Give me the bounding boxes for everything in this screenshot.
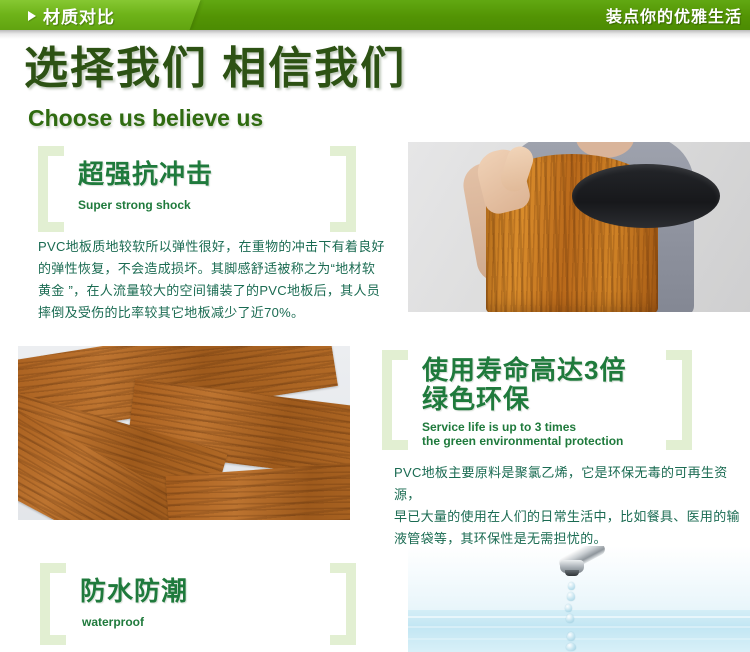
photo3-ripple	[408, 626, 750, 628]
feature-image-2	[18, 346, 350, 520]
photo1-plank-backing	[572, 164, 720, 228]
photo3-faucet-tip	[565, 570, 579, 576]
feature-image-1	[408, 142, 750, 312]
feature-title-cn-3: 防水防潮	[80, 577, 188, 606]
photo3-water-drop	[568, 582, 575, 590]
photo3-water-drop	[565, 604, 572, 612]
section-tab-content: 材质对比	[0, 0, 200, 30]
photo3-water-drop	[567, 632, 575, 641]
feature-title-en-1: Super strong shock	[78, 198, 191, 212]
feature-block-3: 防水防潮 waterproof	[40, 563, 358, 645]
feature-block-2: 使用寿命高达3倍 绿色环保 Service life is up to 3 ti…	[382, 350, 692, 450]
bracket-left-icon	[382, 350, 408, 450]
feature-title-cn-1: 超强抗冲击	[78, 160, 213, 189]
feature-paragraph-2: PVC地板主要原料是聚氯乙烯，它是环保无毒的可再生资源， 早已大量的使用在人们的…	[394, 462, 744, 550]
feature-block-1: 超强抗冲击 Super strong shock	[38, 146, 378, 232]
page-title: 选择我们 相信我们	[24, 46, 406, 92]
section-tab-label: 材质对比	[43, 3, 115, 28]
top-banner-bar: 材质对比 装点你的优雅生活	[0, 0, 750, 30]
page-subtitle: Choose us believe us	[28, 105, 263, 132]
bracket-right-icon	[330, 563, 356, 645]
feature-title-en-2: Service life is up to 3 times the green …	[422, 420, 623, 448]
photo3-ripple	[408, 616, 750, 618]
feature-title-cn-2: 使用寿命高达3倍 绿色环保	[422, 356, 626, 414]
feature-image-3	[408, 546, 750, 652]
bracket-left-icon	[38, 146, 64, 232]
triangle-right-icon	[28, 11, 36, 21]
photo3-water-drop	[566, 614, 574, 623]
photo3-water-drop	[566, 643, 576, 651]
banner-slogan: 装点你的优雅生活	[606, 0, 742, 30]
photo3-ripple	[408, 638, 750, 640]
bracket-right-icon	[666, 350, 692, 450]
banner-shadow	[0, 30, 750, 39]
feature-title-en-3: waterproof	[82, 615, 144, 629]
bracket-right-icon	[330, 146, 356, 232]
feature-paragraph-1: PVC地板质地较软所以弹性很好，在重物的冲击下有着良好 的弹性恢复，不会造成损坏…	[38, 236, 388, 324]
bracket-left-icon	[40, 563, 66, 645]
photo3-water-drop	[567, 592, 575, 601]
